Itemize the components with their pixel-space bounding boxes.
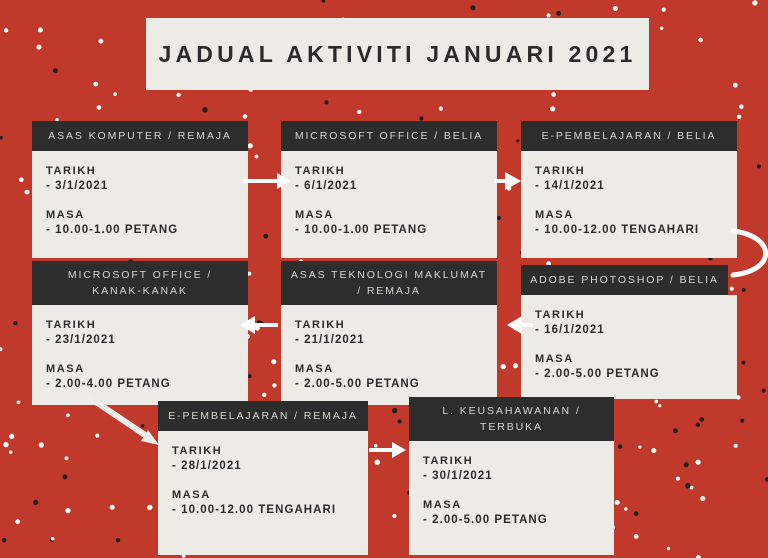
date-label: TARIKH: [295, 319, 483, 331]
time-value: - 10.00-12.00 TENGAHARI: [535, 224, 723, 236]
time-value: - 2.00-5.00 PETANG: [423, 514, 600, 526]
time-field: MASA - 2.00-5.00 PETANG: [535, 353, 723, 380]
activity-card-8-title-line2: TERBUKA: [480, 421, 543, 433]
arrow-card4-to-card7: [90, 398, 159, 445]
activity-card-3-title: E-PEMBELAJARAN / BELIA: [542, 128, 717, 144]
date-value: - 16/1/2021: [535, 324, 723, 336]
activity-card-5-title-line1: ASAS TEKNOLOGI MAKLUMAT: [291, 269, 487, 281]
activity-card-2-title: MICROSOFT OFFICE / BELIA: [295, 128, 483, 144]
date-label: TARIKH: [535, 165, 723, 177]
date-field: TARIKH - 14/1/2021: [535, 165, 723, 192]
time-field: MASA - 10.00-12.00 TENGAHARI: [172, 489, 354, 516]
date-value: - 6/1/2021: [295, 180, 483, 192]
activity-card-3-body: TARIKH - 14/1/2021 MASA - 10.00-12.00 TE…: [521, 151, 737, 258]
date-field: TARIKH - 6/1/2021: [295, 165, 483, 192]
date-label: TARIKH: [535, 309, 723, 321]
time-value: - 10.00-1.00 PETANG: [295, 224, 483, 236]
date-value: - 3/1/2021: [46, 180, 234, 192]
time-value: - 10.00-12.00 TENGAHARI: [172, 504, 354, 516]
activity-card-5-header: ASAS TEKNOLOGI MAKLUMAT / REMAJA: [281, 261, 497, 305]
activity-card-3[interactable]: E-PEMBELAJARAN / BELIA TARIKH - 14/1/202…: [521, 121, 737, 258]
activity-card-7[interactable]: E-PEMBELAJARAN / REMAJA TARIKH - 28/1/20…: [158, 401, 368, 555]
date-value: - 23/1/2021: [46, 334, 234, 346]
activity-card-6-body: TARIKH - 16/1/2021 MASA - 2.00-5.00 PETA…: [521, 295, 737, 399]
time-label: MASA: [46, 209, 234, 221]
date-field: TARIKH - 21/1/2021: [295, 319, 483, 346]
date-field: TARIKH - 30/1/2021: [423, 455, 600, 482]
arrow-card2-to-card3: [494, 172, 521, 190]
activity-card-4-title-line1: MICROSOFT OFFICE /: [68, 269, 212, 281]
date-value: - 21/1/2021: [295, 334, 483, 346]
date-value: - 30/1/2021: [423, 470, 600, 482]
activity-card-2[interactable]: MICROSOFT OFFICE / BELIA TARIKH - 6/1/20…: [281, 121, 497, 258]
date-label: TARIKH: [295, 165, 483, 177]
activity-card-1-title: ASAS KOMPUTER / REMAJA: [48, 128, 232, 144]
date-label: TARIKH: [423, 455, 600, 467]
time-field: MASA - 2.00-5.00 PETANG: [423, 499, 600, 526]
arrow-card7-to-card8: [369, 442, 406, 458]
activity-card-8-body: TARIKH - 30/1/2021 MASA - 2.00-5.00 PETA…: [409, 441, 614, 555]
activity-card-8-header: L. KEUSAHAWANAN / TERBUKA: [409, 397, 614, 441]
activity-card-2-header: MICROSOFT OFFICE / BELIA: [281, 121, 497, 151]
activity-card-6-title: ADOBE PHOTOSHOP / BELIA: [530, 272, 719, 288]
arrow-card3-to-card6: [733, 231, 766, 275]
page-title: JADUAL AKTIVITI JANUARI 2021: [158, 41, 636, 68]
activity-card-7-title: E-PEMBELAJARAN / REMAJA: [168, 408, 358, 424]
activity-card-8-title: L. KEUSAHAWANAN / TERBUKA: [442, 403, 580, 436]
date-label: TARIKH: [172, 445, 354, 457]
activity-card-1[interactable]: ASAS KOMPUTER / REMAJA TARIKH - 3/1/2021…: [32, 121, 248, 258]
activity-card-5-title-line2: / REMAJA: [357, 285, 421, 297]
time-label: MASA: [535, 209, 723, 221]
activity-card-7-header: E-PEMBELAJARAN / REMAJA: [158, 401, 368, 431]
date-label: TARIKH: [46, 165, 234, 177]
activity-card-6-header: ADOBE PHOTOSHOP / BELIA: [521, 265, 728, 295]
activity-card-4-title: MICROSOFT OFFICE / KANAK-KANAK: [68, 267, 212, 300]
activity-card-4-header: MICROSOFT OFFICE / KANAK-KANAK: [32, 261, 248, 305]
schedule-poster: JADUAL AKTIVITI JANUARI 2021 ASAS KOMPUT…: [0, 0, 768, 558]
time-field: MASA - 2.00-5.00 PETANG: [295, 363, 483, 390]
activity-card-5[interactable]: ASAS TEKNOLOGI MAKLUMAT / REMAJA TARIKH …: [281, 261, 497, 405]
activity-card-3-header: E-PEMBELAJARAN / BELIA: [521, 121, 737, 151]
time-field: MASA - 10.00-1.00 PETANG: [46, 209, 234, 236]
activity-card-1-body: TARIKH - 3/1/2021 MASA - 10.00-1.00 PETA…: [32, 151, 248, 258]
date-value: - 28/1/2021: [172, 460, 354, 472]
activity-card-1-header: ASAS KOMPUTER / REMAJA: [32, 121, 248, 151]
time-label: MASA: [535, 353, 723, 365]
time-field: MASA - 2.00-4.00 PETANG: [46, 363, 234, 390]
time-value: - 2.00-5.00 PETANG: [535, 368, 723, 380]
date-field: TARIKH - 3/1/2021: [46, 165, 234, 192]
time-label: MASA: [46, 363, 234, 375]
time-label: MASA: [423, 499, 600, 511]
activity-card-6[interactable]: ADOBE PHOTOSHOP / BELIA TARIKH - 16/1/20…: [521, 265, 737, 399]
time-field: MASA - 10.00-12.00 TENGAHARI: [535, 209, 723, 236]
time-label: MASA: [295, 363, 483, 375]
time-label: MASA: [295, 209, 483, 221]
activity-card-8-title-line1: L. KEUSAHAWANAN /: [442, 405, 580, 417]
activity-card-5-body: TARIKH - 21/1/2021 MASA - 2.00-5.00 PETA…: [281, 305, 497, 405]
time-value: - 2.00-5.00 PETANG: [295, 378, 483, 390]
time-label: MASA: [172, 489, 354, 501]
activity-card-7-body: TARIKH - 28/1/2021 MASA - 10.00-12.00 TE…: [158, 431, 368, 555]
poster-title-banner: JADUAL AKTIVITI JANUARI 2021: [146, 18, 649, 90]
date-field: TARIKH - 28/1/2021: [172, 445, 354, 472]
activity-card-4-title-line2: KANAK-KANAK: [92, 285, 188, 297]
time-value: - 10.00-1.00 PETANG: [46, 224, 234, 236]
date-field: TARIKH - 16/1/2021: [535, 309, 723, 336]
time-field: MASA - 10.00-1.00 PETANG: [295, 209, 483, 236]
time-value: - 2.00-4.00 PETANG: [46, 378, 234, 390]
activity-card-8[interactable]: L. KEUSAHAWANAN / TERBUKA TARIKH - 30/1/…: [409, 397, 614, 555]
activity-card-4-body: TARIKH - 23/1/2021 MASA - 2.00-4.00 PETA…: [32, 305, 248, 405]
date-field: TARIKH - 23/1/2021: [46, 319, 234, 346]
activity-card-4[interactable]: MICROSOFT OFFICE / KANAK-KANAK TARIKH - …: [32, 261, 248, 405]
date-label: TARIKH: [46, 319, 234, 331]
date-value: - 14/1/2021: [535, 180, 723, 192]
activity-card-5-title: ASAS TEKNOLOGI MAKLUMAT / REMAJA: [291, 267, 487, 300]
activity-card-2-body: TARIKH - 6/1/2021 MASA - 10.00-1.00 PETA…: [281, 151, 497, 258]
